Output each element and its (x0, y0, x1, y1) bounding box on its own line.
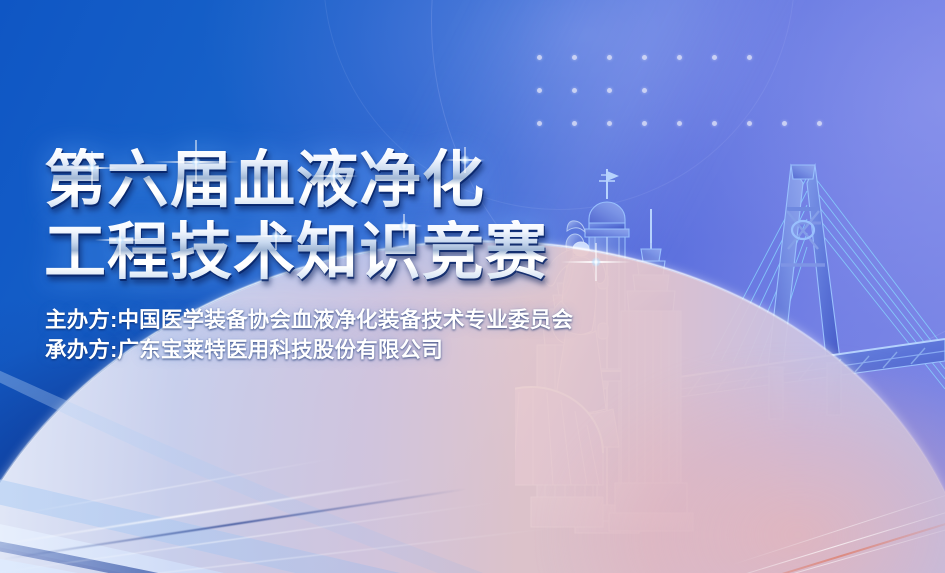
event-banner: 第六届血液净化 工程技术知识竞赛 主办方:中国医学装备协会血液净化装备技术专业委… (0, 0, 945, 573)
grid-dot (537, 55, 542, 60)
grid-dot (642, 55, 647, 60)
grid-dot (747, 121, 752, 126)
title-line-2: 工程技术知识竞赛 (44, 220, 548, 286)
grid-dot (817, 121, 822, 126)
grid-dot (607, 121, 612, 126)
grid-dot (572, 88, 577, 93)
grid-dot (747, 55, 752, 60)
dot-grid-row (537, 88, 822, 93)
organizer-line: 主办方:中国医学装备协会血液净化装备技术专业委员会 (45, 305, 573, 335)
grid-dot (642, 121, 647, 126)
dot-grid-row (537, 121, 822, 126)
grid-dot (537, 121, 542, 126)
grid-dot (572, 121, 577, 126)
grid-dot (782, 121, 787, 126)
dot-grid-pattern (537, 55, 822, 154)
banner-title: 第六届血液净化 工程技术知识竞赛 (44, 148, 548, 286)
co-organizer-line: 承办方:广东宝莱特医用科技股份有限公司 (45, 335, 573, 365)
grid-dot (537, 88, 542, 93)
grid-dot (572, 55, 577, 60)
grid-dot (677, 55, 682, 60)
grid-dot (712, 55, 717, 60)
grid-dot (642, 88, 647, 93)
title-line-1: 第六届血液净化 (44, 148, 548, 214)
banner-subtitle: 主办方:中国医学装备协会血液净化装备技术专业委员会 承办方:广东宝莱特医用科技股… (45, 305, 573, 365)
grid-dot (607, 88, 612, 93)
light-ribbon-streaks (0, 243, 740, 573)
grid-dot (712, 121, 717, 126)
grid-dot (677, 121, 682, 126)
dot-grid-row (537, 55, 822, 60)
grid-dot (607, 55, 612, 60)
